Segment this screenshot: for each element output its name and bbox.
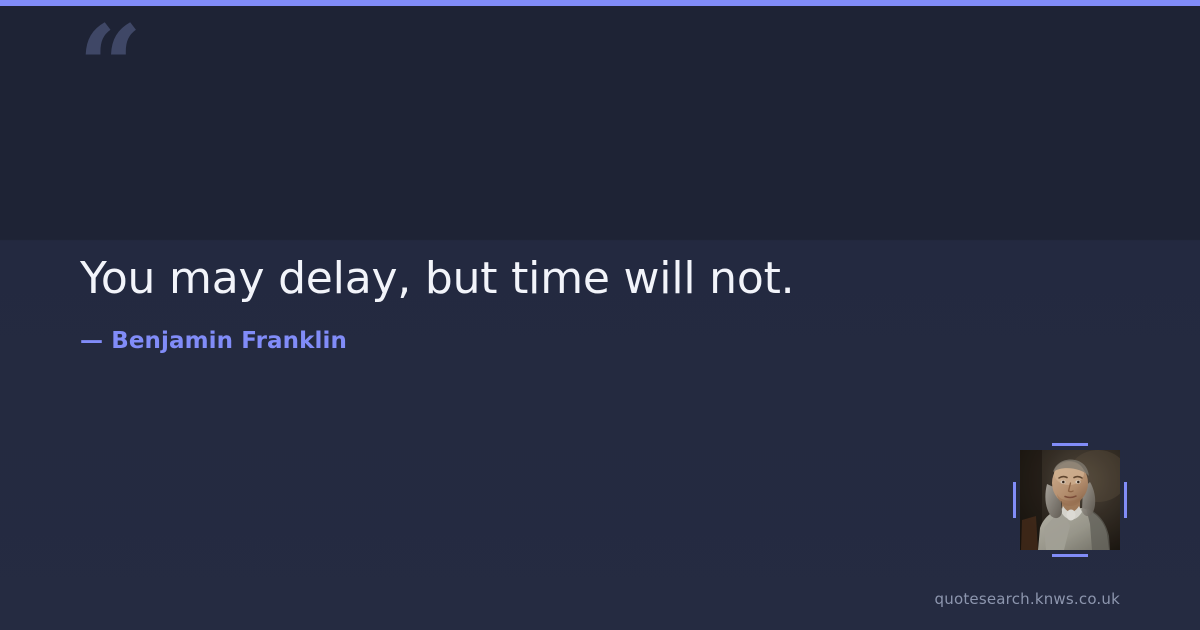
frame-tick-right-icon (1124, 482, 1127, 518)
open-quote-icon: “ (78, 12, 140, 124)
author-portrait (1020, 450, 1120, 550)
frame-tick-top-icon (1052, 443, 1088, 446)
quote-attribution: — Benjamin Franklin (80, 328, 960, 354)
quote-text: You may delay, but time will not. (80, 252, 960, 306)
top-accent-bar (0, 0, 1200, 6)
author-portrait-frame (1020, 450, 1120, 550)
site-watermark: quotesearch.knws.co.uk (935, 590, 1120, 608)
quote-card: “ You may delay, but time will not. — Be… (0, 0, 1200, 630)
frame-tick-bottom-icon (1052, 554, 1088, 557)
frame-tick-left-icon (1013, 482, 1016, 518)
quote-content: You may delay, but time will not. — Benj… (80, 252, 960, 354)
